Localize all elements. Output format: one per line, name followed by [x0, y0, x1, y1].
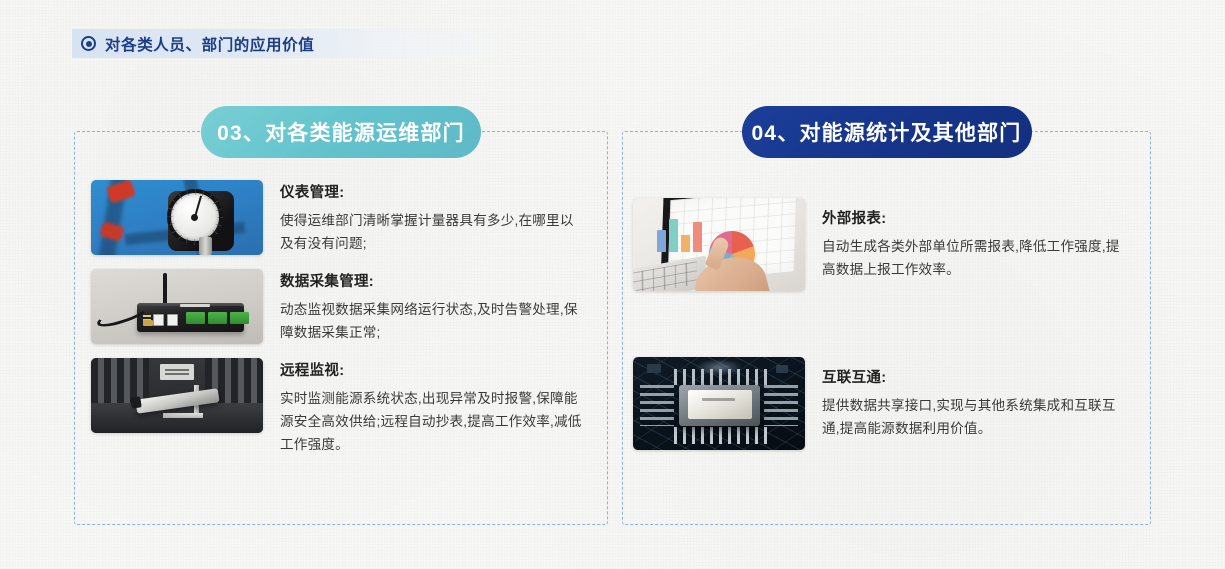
- feature-text: 外部报表: 自动生成各类外部单位所需报表,降低工作强度,提高数据上报工作效率。: [822, 198, 1126, 282]
- data-acquisition-device-photo: [91, 269, 263, 344]
- section-header: 对各类人员、部门的应用价值: [72, 29, 532, 58]
- panel-04-body: 外部报表: 自动生成各类外部单位所需报表,降低工作强度,提高数据上报工作效率。 …: [623, 132, 1150, 524]
- list-item: 数据采集管理: 动态监视数据采集网络运行状态,及时告警处理,保障数据采集正常;: [91, 269, 583, 345]
- panel-04-statistics-departments: 04、对能源统计及其他部门 外部报表: 自动生成各类外部单位所需报表,降低工作强…: [622, 131, 1151, 525]
- laptop-charts-photo: [633, 198, 805, 291]
- target-dot-icon: [81, 36, 96, 51]
- list-item: 远程监视: 实时监测能源系统状态,出现异常及时报警,保障能源安全高效供给;远程自…: [91, 358, 583, 457]
- feature-title: 数据采集管理:: [280, 270, 583, 291]
- feature-description: 动态监视数据采集网络运行状态,及时告警处理,保障数据采集正常;: [280, 298, 583, 345]
- panel-03-badge: 03、对各类能源运维部门: [201, 106, 481, 158]
- page-title: 对各类人员、部门的应用价值: [105, 33, 314, 55]
- feature-description: 实时监测能源系统状态,出现异常及时报警,保障能源安全高效供给;远程自动抄表,提高…: [280, 387, 583, 457]
- feature-description: 自动生成各类外部单位所需报表,降低工作强度,提高数据上报工作效率。: [822, 235, 1126, 282]
- list-item: 外部报表: 自动生成各类外部单位所需报表,降低工作强度,提高数据上报工作效率。: [633, 198, 1126, 291]
- feature-description: 提供数据共享接口,实现与其他系统集成和互联互通,提高能源数据利用价值。: [822, 394, 1126, 441]
- feature-text: 远程监视: 实时监测能源系统状态,出现异常及时报警,保障能源安全高效供给;远程自…: [280, 358, 583, 457]
- feature-text: 仪表管理: 使得运维部门清晰掌握计量器具有多少,在哪里以及有没有问题;: [280, 180, 583, 256]
- circuit-board-cpu-photo: [633, 357, 805, 450]
- feature-description: 使得运维部门清晰掌握计量器具有多少,在哪里以及有没有问题;: [280, 209, 583, 256]
- pressure-gauge-photo: [91, 180, 263, 255]
- feature-text: 互联互通: 提供数据共享接口,实现与其他系统集成和互联互通,提高能源数据利用价值…: [822, 357, 1126, 441]
- feature-title: 互联互通:: [822, 366, 1126, 387]
- surveillance-camera-photo: [91, 358, 263, 433]
- feature-title: 外部报表:: [822, 207, 1126, 228]
- list-item: 互联互通: 提供数据共享接口,实现与其他系统集成和互联互通,提高能源数据利用价值…: [633, 357, 1126, 450]
- list-item: 仪表管理: 使得运维部门清晰掌握计量器具有多少,在哪里以及有没有问题;: [91, 180, 583, 256]
- panel-03-ops-departments: 03、对各类能源运维部门 仪表管理: 使得运维部门清晰掌握计量器具有多少,在哪里…: [74, 131, 608, 525]
- feature-title: 仪表管理:: [280, 181, 583, 202]
- feature-text: 数据采集管理: 动态监视数据采集网络运行状态,及时告警处理,保障数据采集正常;: [280, 269, 583, 345]
- panel-03-body: 仪表管理: 使得运维部门清晰掌握计量器具有多少,在哪里以及有没有问题; 数据采集…: [75, 132, 607, 524]
- feature-title: 远程监视:: [280, 359, 583, 380]
- panel-04-badge: 04、对能源统计及其他部门: [742, 106, 1032, 158]
